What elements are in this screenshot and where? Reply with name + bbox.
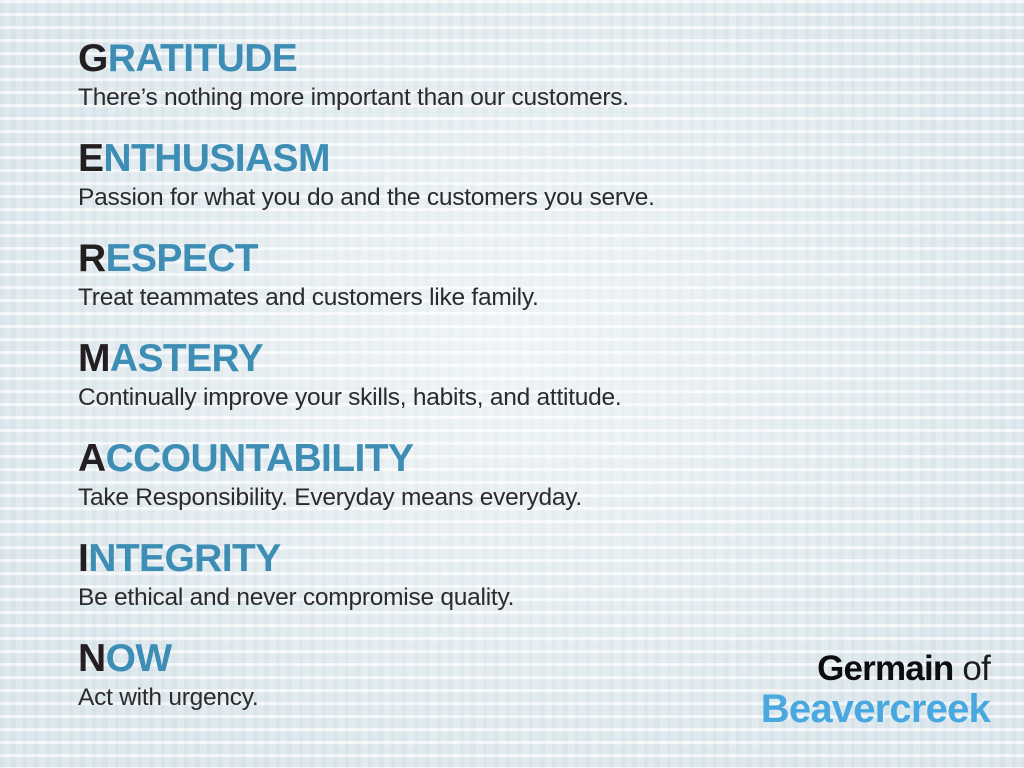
value-initial-letter: M [78,337,110,380]
value-block-mastery: MASTERY Continually improve your skills,… [78,338,978,438]
value-block-gratitude: GRATITUDE There’s nothing more important… [78,38,978,138]
value-description-integrity: Be ethical and never compromise quality. [78,583,978,613]
value-word-remainder: ASTERY [110,337,263,380]
value-heading-enthusiasm: ENTHUSIASM [78,138,978,180]
value-word-remainder: OW [106,637,172,680]
value-word-remainder: NTHUSIASM [103,137,329,180]
value-heading-integrity: INTEGRITY [78,538,978,580]
value-block-respect: RESPECT Treat teammates and customers li… [78,238,978,338]
value-block-accountability: ACCOUNTABILITY Take Responsibility. Ever… [78,438,978,538]
values-slide: GRATITUDE There’s nothing more important… [0,0,1024,768]
logo-line-primary: Germain of [761,650,990,688]
value-block-integrity: INTEGRITY Be ethical and never compromis… [78,538,978,638]
value-heading-respect: RESPECT [78,238,978,280]
value-description-gratitude: There’s nothing more important than our … [78,83,978,113]
value-description-accountability: Take Responsibility. Everyday means ever… [78,483,978,513]
value-heading-gratitude: GRATITUDE [78,38,978,80]
value-word-remainder: CCOUNTABILITY [106,437,414,480]
value-heading-mastery: MASTERY [78,338,978,380]
value-word-remainder: NTEGRITY [88,537,280,580]
logo-brand-name: Germain [817,649,953,688]
dealership-logo: Germain of Beavercreek [761,650,990,730]
logo-connector-word: of [953,649,990,688]
logo-location-name: Beavercreek [761,688,990,730]
value-initial-letter: A [78,437,106,480]
value-initial-letter: E [78,137,103,180]
value-word-remainder: RATITUDE [108,37,297,80]
core-values-list: GRATITUDE There’s nothing more important… [78,38,978,738]
value-initial-letter: N [78,637,106,680]
value-description-mastery: Continually improve your skills, habits,… [78,383,978,413]
value-initial-letter: G [78,37,108,80]
value-initial-letter: I [78,537,88,580]
logo-connector-text: of [962,649,990,688]
value-block-enthusiasm: ENTHUSIASM Passion for what you do and t… [78,138,978,238]
value-initial-letter: R [78,237,106,280]
value-description-respect: Treat teammates and customers like famil… [78,283,978,313]
value-description-enthusiasm: Passion for what you do and the customer… [78,183,978,213]
value-heading-accountability: ACCOUNTABILITY [78,438,978,480]
value-word-remainder: ESPECT [106,237,258,280]
